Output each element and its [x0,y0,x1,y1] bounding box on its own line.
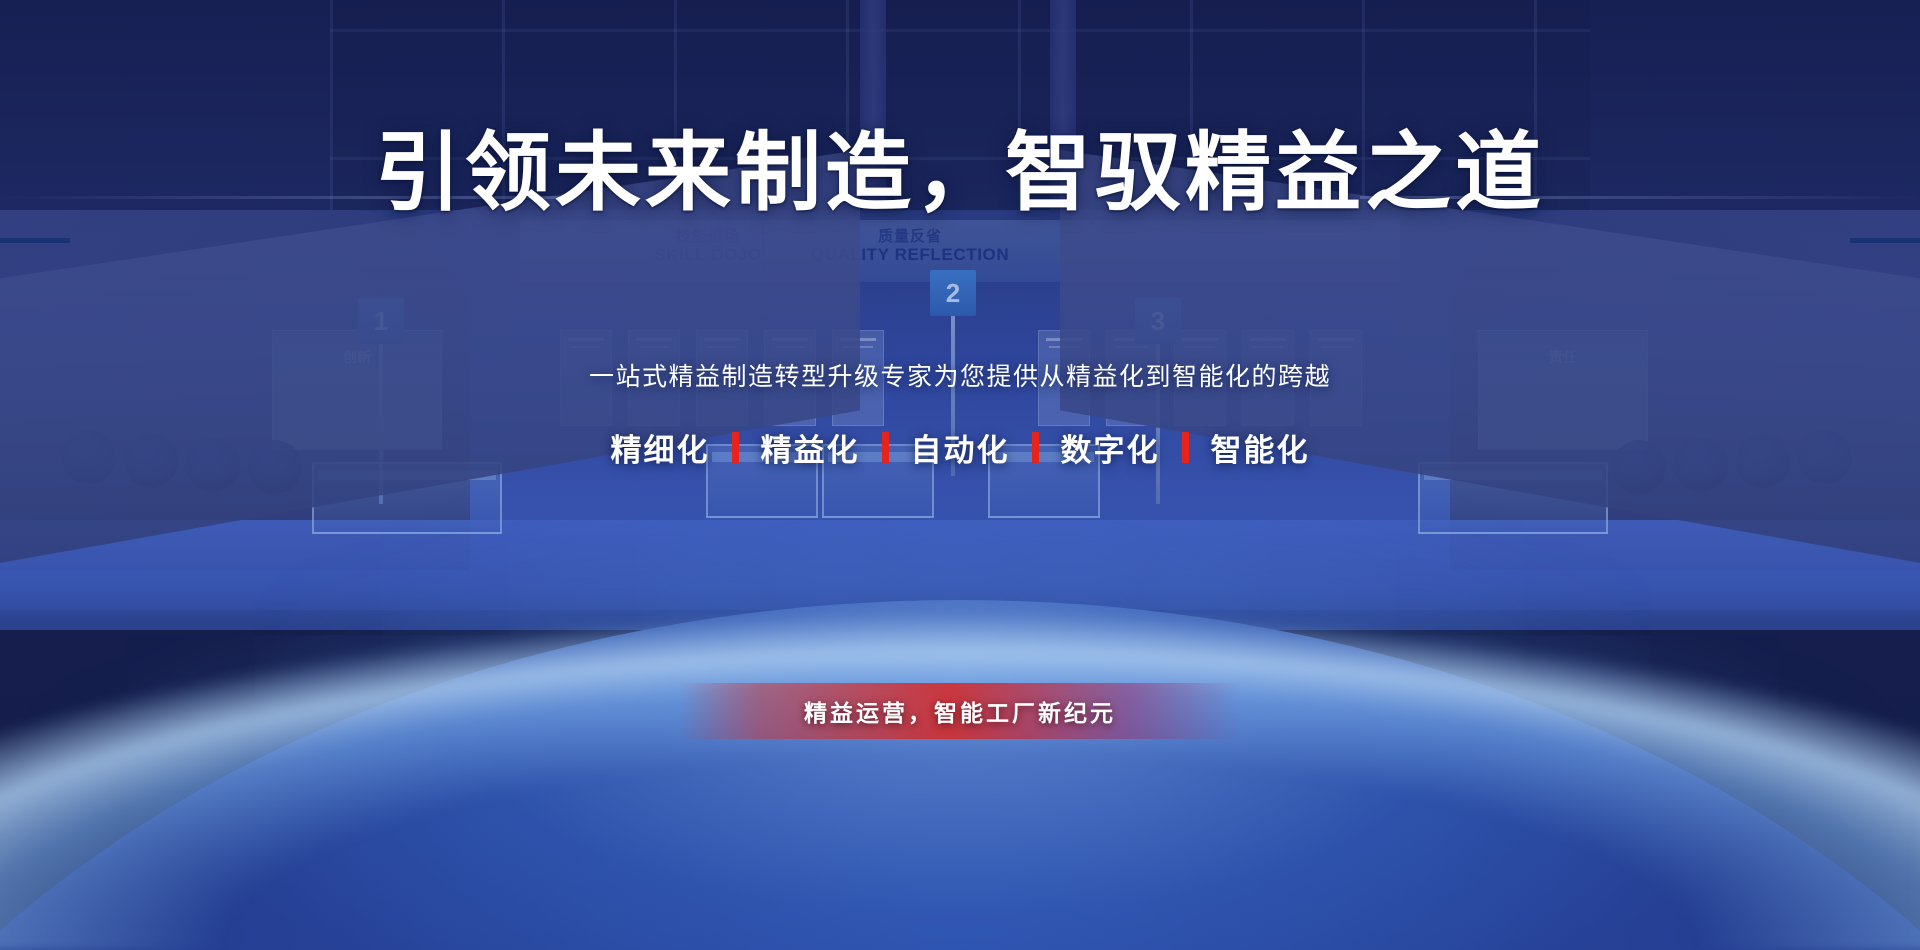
tagline-badge-text: 精益运营，智能工厂新纪元 [804,694,1116,728]
page-title: 引领未来制造，智驭精益之道 [0,130,1920,216]
subtitle: 一站式精益制造转型升级专家为您提供从精益化到智能化的跨越 [0,357,1920,393]
keyword-separator-icon [732,432,739,463]
keyword-item-3: 自动化 [911,425,1010,470]
keyword-list: 精细化 精益化 自动化 数字化 智能化 [0,425,1920,470]
banner-stage: 技能道场 SKILL DOJO 质量反省 QUALITY REFLECTION … [0,0,1920,950]
keyword-item-4: 数字化 [1061,425,1160,470]
keyword-separator-icon [1182,432,1189,463]
keyword-item-1: 精细化 [611,425,710,470]
keyword-separator-icon [1032,432,1039,463]
keyword-item-5: 智能化 [1211,425,1310,470]
text-overlay: 引领未来制造，智驭精益之道 一站式精益制造转型升级专家为您提供从精益化到智能化的… [0,0,1920,950]
tagline-badge: 精益运营，智能工厂新纪元 [680,683,1240,739]
keyword-separator-icon [882,432,889,463]
keyword-item-2: 精益化 [761,425,860,470]
